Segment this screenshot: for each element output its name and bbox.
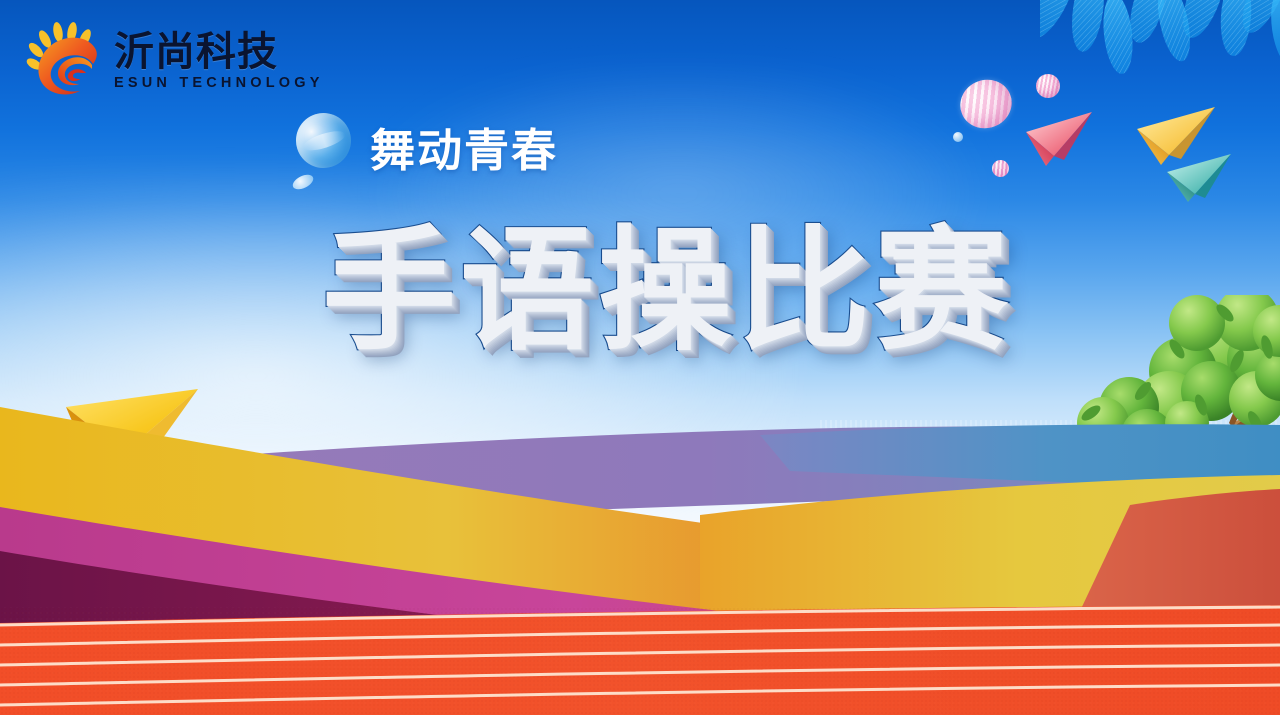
paper-plane-teal-icon xyxy=(1165,152,1233,204)
bubble-mini xyxy=(953,132,963,142)
brand-text: 沂尚科技 ESUN TECHNOLOGY xyxy=(114,32,324,91)
bubble-pink-small xyxy=(992,160,1009,177)
poster-subtitle: 舞动青春 xyxy=(370,128,558,173)
esun-swirl-sun-logo-icon xyxy=(18,20,114,100)
track-lane-lines xyxy=(0,605,1280,715)
bubble-pink-medium xyxy=(1036,74,1060,98)
brand-logo[interactable]: 沂尚科技 ESUN TECHNOLOGY xyxy=(18,20,324,100)
poster-canvas: 沂尚科技 ESUN TECHNOLOGY 舞动青春 手语操比赛 xyxy=(0,0,1280,715)
poster-title: 手语操比赛 xyxy=(322,224,1012,358)
paper-plane-red-icon xyxy=(1024,110,1094,168)
brand-name-en: ESUN TECHNOLOGY xyxy=(114,76,324,91)
brand-name-cn: 沂尚科技 xyxy=(114,32,278,72)
